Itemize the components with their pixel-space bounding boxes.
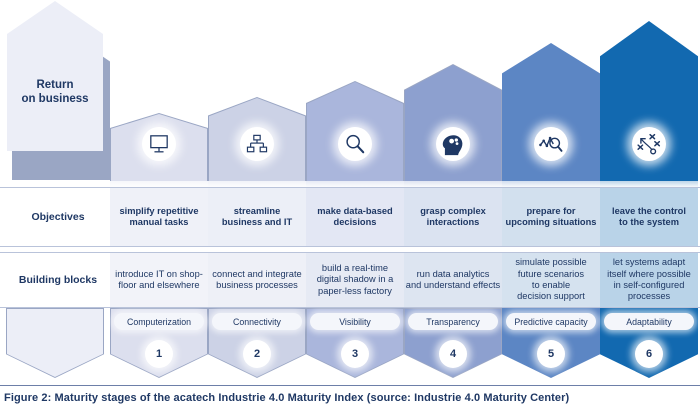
level-pill-2[interactable]: Connectivity xyxy=(212,313,302,330)
objectives-line1-4: grasp complex xyxy=(420,206,486,216)
building-line3-3: paper-less factory xyxy=(318,286,392,296)
objectives-text-5: prepare forupcoming situations xyxy=(502,206,600,229)
building-blocks-text-4: run data analyticsand understand effects xyxy=(404,269,502,292)
stage-column-4[interactable]: grasp complexinteractionsrun data analyt… xyxy=(404,0,502,380)
strategy-tactics-icon xyxy=(632,127,666,161)
return-on-business-label: Return on business xyxy=(6,78,104,106)
objectives-line2-4: interactions xyxy=(427,217,480,227)
divider-objectives-top xyxy=(0,187,700,188)
level-pill-5[interactable]: Predictive capacity xyxy=(506,313,596,330)
stage-column-1[interactable]: simplify repetitivemanual tasksintroduce… xyxy=(110,0,208,380)
objectives-text-1: simplify repetitivemanual tasks xyxy=(110,206,208,229)
network-icon xyxy=(240,127,274,161)
objectives-line2-1: manual tasks xyxy=(130,217,189,227)
building-line1-4: run data analytics xyxy=(417,269,490,279)
objectives-line1-6: leave the control xyxy=(612,206,686,216)
level-number-1: 1 xyxy=(145,340,173,368)
objectives-line2-3: decisions xyxy=(334,217,377,227)
building-line1-6: let systems adapt xyxy=(613,257,685,267)
building-blocks-text-5: simulate possiblefuture scenariosto enab… xyxy=(502,257,600,303)
objectives-line1-1: simplify repetitive xyxy=(119,206,198,216)
level-pill-4[interactable]: Transparency xyxy=(408,313,498,330)
divider-building-bottom xyxy=(0,307,700,308)
level-number-6: 6 xyxy=(635,340,663,368)
building-line1-2: connect and integrate xyxy=(212,269,301,279)
building-line2-2: business processes xyxy=(216,280,298,290)
building-line3-5: to enable xyxy=(532,280,570,290)
building-blocks-text-3: build a real-timedigital shadow in apape… xyxy=(306,263,404,297)
building-line1-1: introduce IT on shop- xyxy=(115,269,203,279)
objectives-line1-5: prepare for xyxy=(526,206,575,216)
objectives-line1-2: streamline xyxy=(234,206,281,216)
building-line4-5: decision support xyxy=(517,291,585,301)
level-number-5: 5 xyxy=(537,340,565,368)
objectives-text-4: grasp complexinteractions xyxy=(404,206,502,229)
building-line1-5: simulate possible xyxy=(515,257,586,267)
objectives-line2-5: upcoming situations xyxy=(506,217,597,227)
level-pill-6[interactable]: Adaptability xyxy=(604,313,694,330)
stage-column-2[interactable]: streamlinebusiness and ITconnect and int… xyxy=(208,0,306,380)
divider-objectives-bottom xyxy=(0,246,700,247)
objectives-text-3: make data-baseddecisions xyxy=(306,206,404,229)
brain-head-icon xyxy=(436,127,470,161)
level-number-2: 2 xyxy=(243,340,271,368)
objectives-text-6: leave the controlto the system xyxy=(600,206,698,229)
row-label-objectives: Objectives xyxy=(6,211,110,223)
level-number-3: 3 xyxy=(341,340,369,368)
building-blocks-text-1: introduce IT on shop-floor and elsewhere xyxy=(110,269,208,292)
return-on-business-label-line2: on business xyxy=(21,93,88,105)
building-blocks-text-6: let systems adaptitself where possiblein… xyxy=(600,257,698,303)
stage-column-5[interactable]: prepare forupcoming situationssimulate p… xyxy=(502,0,600,380)
building-line2-5: future scenarios xyxy=(518,269,584,279)
building-line2-3: digital shadow in a xyxy=(317,274,394,284)
stage-column-3[interactable]: make data-baseddecisionsbuild a real-tim… xyxy=(306,0,404,380)
building-line1-3: build a real-time xyxy=(322,263,388,273)
monitor-icon xyxy=(142,127,176,161)
building-line3-6: in self-configured xyxy=(614,280,685,290)
magnifier-icon xyxy=(338,127,372,161)
return-on-business-label-line1: Return xyxy=(36,79,73,91)
return-on-business-block xyxy=(7,1,103,151)
building-blocks-text-2: connect and integratebusiness processes xyxy=(208,269,306,292)
objectives-line2-6: to the system xyxy=(619,217,679,227)
building-line2-6: itself where possible xyxy=(607,269,691,279)
figure-caption: Figure 2: Maturity stages of the acatech… xyxy=(4,392,696,404)
stage-column-6[interactable]: leave the controlto the systemlet system… xyxy=(600,0,698,380)
divider-building-top xyxy=(0,252,700,253)
objectives-text-2: streamlinebusiness and IT xyxy=(208,206,306,229)
level-number-4: 4 xyxy=(439,340,467,368)
maturity-index-figure: Return on business Objectives Building b… xyxy=(0,0,700,414)
trend-forecast-icon xyxy=(534,127,568,161)
objectives-line2-2: business and IT xyxy=(222,217,292,227)
caption-rule xyxy=(0,385,700,386)
level-pill-1[interactable]: Computerization xyxy=(114,313,204,330)
row-label-building-blocks: Building blocks xyxy=(6,274,110,286)
objectives-line1-3: make data-based xyxy=(317,206,392,216)
building-line4-6: processes xyxy=(628,291,670,301)
building-line2-1: floor and elsewhere xyxy=(118,280,199,290)
building-line2-4: and understand effects xyxy=(406,280,500,290)
level-pill-3[interactable]: Visibility xyxy=(310,313,400,330)
